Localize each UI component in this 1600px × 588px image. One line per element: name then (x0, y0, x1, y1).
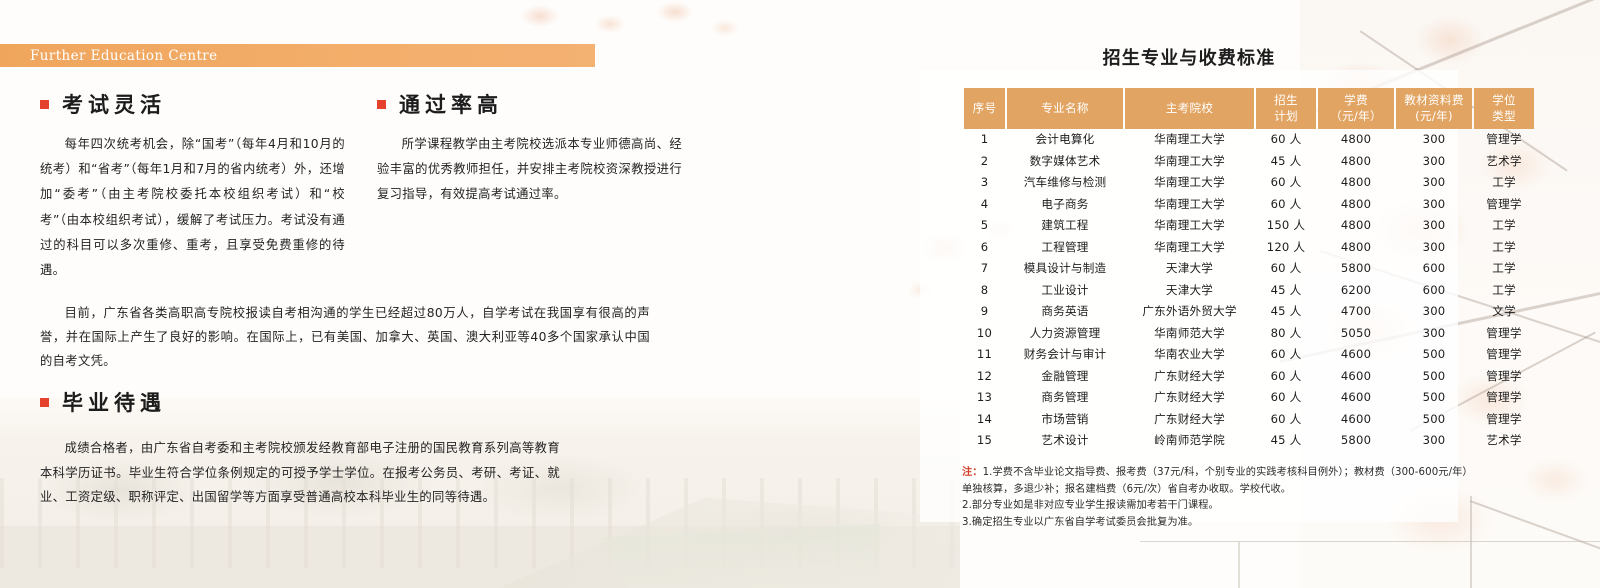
note-line: 2.部分专业如是非对应专业学生报读需加考若干门课程。 (962, 498, 1450, 515)
utility-pole-decor (1470, 496, 1472, 588)
cell-no: 8 (964, 280, 1005, 302)
table-row: 8工业设计天津大学45 人6200600工学 (964, 280, 1534, 302)
cell-no: 4 (964, 194, 1005, 216)
table-row: 10人力资源管理华南师范大学80 人5050300管理学 (964, 323, 1534, 345)
cell-major: 模具设计与制造 (1007, 258, 1123, 280)
cell-school: 华南理工大学 (1125, 129, 1254, 151)
note-line: 3.确定招生专业以广东省自学考试委员会批复为准。 (962, 515, 1450, 532)
cell-plan: 60 人 (1256, 366, 1316, 388)
cell-tuition: 4800 (1318, 151, 1394, 173)
cell-school: 天津大学 (1125, 280, 1254, 302)
cell-no: 6 (964, 237, 1005, 259)
cell-school: 华南理工大学 (1125, 172, 1254, 194)
campus-field-patch (600, 518, 880, 588)
note-lead-label: 注： (962, 467, 983, 478)
col-header-no: 序号 (964, 88, 1005, 129)
cell-major: 工业设计 (1007, 280, 1123, 302)
cell-book: 500 (1396, 387, 1472, 409)
section-heading-label: 考试灵活 (62, 89, 166, 119)
cell-school: 广东财经大学 (1125, 387, 1254, 409)
cell-no: 9 (964, 301, 1005, 323)
cell-major: 汽车维修与检测 (1007, 172, 1123, 194)
col-header-school: 主考院校 (1125, 88, 1254, 129)
cell-plan: 120 人 (1256, 237, 1316, 259)
table-row: 3汽车维修与检测华南理工大学60 人4800300工学 (964, 172, 1534, 194)
cell-school: 广东外语外贸大学 (1125, 301, 1254, 323)
cell-no: 10 (964, 323, 1005, 345)
cell-school: 华南理工大学 (1125, 215, 1254, 237)
cell-no: 3 (964, 172, 1005, 194)
col-header-major: 专业名称 (1007, 88, 1123, 129)
cell-no: 1 (964, 129, 1005, 151)
cell-degree: 工学 (1474, 237, 1534, 259)
cell-major: 人力资源管理 (1007, 323, 1123, 345)
cell-no: 11 (964, 344, 1005, 366)
section-body-pass-rate: 所学课程教学由主考院校选派本专业师德高尚、经验丰富的优秀教师担任，并安排主考院校… (377, 132, 682, 208)
cell-book: 300 (1396, 129, 1472, 151)
cell-degree: 工学 (1474, 215, 1534, 237)
cell-book: 500 (1396, 409, 1472, 431)
cell-book: 300 (1396, 151, 1472, 173)
cell-major: 市场营销 (1007, 409, 1123, 431)
cell-plan: 45 人 (1256, 430, 1316, 452)
section-heading-label: 通过率高 (399, 89, 503, 119)
col-header-plan: 招生计划 (1256, 88, 1316, 129)
cell-plan: 45 人 (1256, 151, 1316, 173)
square-bullet-icon (40, 398, 49, 407)
cell-degree: 管理学 (1474, 323, 1534, 345)
cell-degree: 工学 (1474, 280, 1534, 302)
cell-school: 华南师范大学 (1125, 323, 1254, 345)
cell-major: 会计电算化 (1007, 129, 1123, 151)
cell-plan: 80 人 (1256, 323, 1316, 345)
cell-no: 7 (964, 258, 1005, 280)
cell-plan: 60 人 (1256, 194, 1316, 216)
cell-major: 建筑工程 (1007, 215, 1123, 237)
section-banner-label: Further Education Centre (30, 48, 218, 64)
table-row: 5建筑工程华南理工大学150 人4800300工学 (964, 215, 1534, 237)
cell-book: 300 (1396, 323, 1472, 345)
cell-book: 600 (1396, 258, 1472, 280)
cell-plan: 60 人 (1256, 387, 1316, 409)
cell-degree: 文学 (1474, 301, 1534, 323)
table-row: 13商务管理广东财经大学60 人4600500管理学 (964, 387, 1534, 409)
cell-tuition: 4800 (1318, 194, 1394, 216)
cell-plan: 60 人 (1256, 129, 1316, 151)
admissions-fee-table: 序号 专业名称 主考院校 招生计划 学费（元/年） 教材资料费(元/年) 学位类… (962, 88, 1536, 452)
square-bullet-icon (377, 100, 386, 109)
cell-tuition: 4800 (1318, 237, 1394, 259)
cell-book: 300 (1396, 237, 1472, 259)
table-row: 7模具设计与制造天津大学60 人5800600工学 (964, 258, 1534, 280)
standalone-paragraph: 目前，广东省各类高职高专院校报读自考相沟通的学生已经超过80万人，自学考试在我国… (40, 302, 650, 374)
section-heading-pass-rate: 通过率高 (377, 89, 503, 119)
table-row: 9商务英语广东外语外贸大学45 人4700300文学 (964, 301, 1534, 323)
cell-school: 天津大学 (1125, 258, 1254, 280)
section-heading-label: 毕业待遇 (62, 387, 166, 417)
cell-tuition: 5050 (1318, 323, 1394, 345)
table-row: 11财务会计与审计华南农业大学60 人4600500管理学 (964, 344, 1534, 366)
table-row: 1会计电算化华南理工大学60 人4800300管理学 (964, 129, 1534, 151)
cell-degree: 工学 (1474, 258, 1534, 280)
cell-major: 财务会计与审计 (1007, 344, 1123, 366)
cell-degree: 管理学 (1474, 129, 1534, 151)
utility-pole-decor-2 (1238, 542, 1240, 588)
cell-school: 岭南师范学院 (1125, 430, 1254, 452)
cell-major: 数字媒体艺术 (1007, 151, 1123, 173)
cell-book: 300 (1396, 172, 1472, 194)
cell-plan: 150 人 (1256, 215, 1316, 237)
cell-major: 商务英语 (1007, 301, 1123, 323)
cell-book: 500 (1396, 344, 1472, 366)
cell-major: 金融管理 (1007, 366, 1123, 388)
section-heading-exam-flexible: 考试灵活 (40, 89, 166, 119)
cell-tuition: 5800 (1318, 430, 1394, 452)
cell-major: 艺术设计 (1007, 430, 1123, 452)
square-bullet-icon (40, 100, 49, 109)
cell-school: 广东财经大学 (1125, 409, 1254, 431)
cell-no: 15 (964, 430, 1005, 452)
cell-book: 300 (1396, 301, 1472, 323)
cell-no: 14 (964, 409, 1005, 431)
table-notes: 注：1.学费不含毕业论文指导费、报考费（37元/科，个别专业的实践考核科目例外）… (962, 465, 1450, 531)
cell-school: 广东财经大学 (1125, 366, 1254, 388)
cell-degree: 管理学 (1474, 194, 1534, 216)
table-title: 招生专业与收费标准 (920, 44, 1458, 70)
cell-school: 华南理工大学 (1125, 194, 1254, 216)
cell-tuition: 4800 (1318, 172, 1394, 194)
table-row: 6工程管理华南理工大学120 人4800300工学 (964, 237, 1534, 259)
cell-no: 12 (964, 366, 1005, 388)
cell-tuition: 4600 (1318, 344, 1394, 366)
cell-school: 华南农业大学 (1125, 344, 1254, 366)
table-row: 4电子商务华南理工大学60 人4800300管理学 (964, 194, 1534, 216)
cell-tuition: 4600 (1318, 409, 1394, 431)
cell-plan: 60 人 (1256, 172, 1316, 194)
cell-book: 300 (1396, 194, 1472, 216)
cell-degree: 艺术学 (1474, 151, 1534, 173)
cell-tuition: 4600 (1318, 387, 1394, 409)
section-banner: Further Education Centre (0, 44, 595, 67)
cell-tuition: 5800 (1318, 258, 1394, 280)
cell-book: 500 (1396, 366, 1472, 388)
cell-school: 华南理工大学 (1125, 151, 1254, 173)
cell-no: 5 (964, 215, 1005, 237)
cell-degree: 管理学 (1474, 366, 1534, 388)
cell-major: 电子商务 (1007, 194, 1123, 216)
note-line: 注：1.学费不含毕业论文指导费、报考费（37元/科，个别专业的实践考核科目例外）… (962, 465, 1450, 482)
cell-tuition: 4700 (1318, 301, 1394, 323)
cell-plan: 60 人 (1256, 258, 1316, 280)
cell-book: 600 (1396, 280, 1472, 302)
cell-tuition: 6200 (1318, 280, 1394, 302)
cell-plan: 60 人 (1256, 409, 1316, 431)
cell-degree: 管理学 (1474, 344, 1534, 366)
col-header-degree: 学位类型 (1474, 88, 1534, 129)
cell-major: 工程管理 (1007, 237, 1123, 259)
table-row: 12金融管理广东财经大学60 人4600500管理学 (964, 366, 1534, 388)
cell-plan: 45 人 (1256, 280, 1316, 302)
horizon-line-decor (1140, 541, 1600, 542)
cell-tuition: 4600 (1318, 366, 1394, 388)
cell-degree: 管理学 (1474, 387, 1534, 409)
cell-tuition: 4800 (1318, 215, 1394, 237)
cell-no: 13 (964, 387, 1005, 409)
cell-tuition: 4800 (1318, 129, 1394, 151)
cell-degree: 工学 (1474, 172, 1534, 194)
section-heading-graduation-benefits: 毕业待遇 (40, 387, 166, 417)
table-row: 14市场营销广东财经大学60 人4600500管理学 (964, 409, 1534, 431)
brochure-page: Further Education Centre 考试灵活 每年四次统考机会，除… (0, 0, 1600, 588)
cell-plan: 45 人 (1256, 301, 1316, 323)
cell-book: 300 (1396, 430, 1472, 452)
col-header-book: 教材资料费(元/年) (1396, 88, 1472, 129)
cell-major: 商务管理 (1007, 387, 1123, 409)
table-row: 2数字媒体艺术华南理工大学45 人4800300艺术学 (964, 151, 1534, 173)
note-line: 单独核算，多退少补；报名建档费（6元/次）省自考办收取。学校代收。 (962, 482, 1450, 499)
cell-school: 华南理工大学 (1125, 237, 1254, 259)
cell-no: 2 (964, 151, 1005, 173)
table-header-row: 序号 专业名称 主考院校 招生计划 学费（元/年） 教材资料费(元/年) 学位类… (964, 88, 1534, 129)
section-body-graduation-benefits: 成绩合格者，由广东省自考委和主考院校颁发经教育部电子注册的国民教育系列高等教育本… (40, 436, 560, 510)
cell-book: 300 (1396, 215, 1472, 237)
section-body-exam-flexible: 每年四次统考机会，除“国考”（每年4月和10月的统考）和“省考”（每年1月和7月… (40, 132, 345, 283)
table-row: 15艺术设计岭南师范学院45 人5800300艺术学 (964, 430, 1534, 452)
cell-degree: 管理学 (1474, 409, 1534, 431)
cell-plan: 60 人 (1256, 344, 1316, 366)
cell-degree: 艺术学 (1474, 430, 1534, 452)
col-header-tuition: 学费（元/年） (1318, 88, 1394, 129)
table-body: 1会计电算化华南理工大学60 人4800300管理学2数字媒体艺术华南理工大学4… (964, 129, 1534, 452)
